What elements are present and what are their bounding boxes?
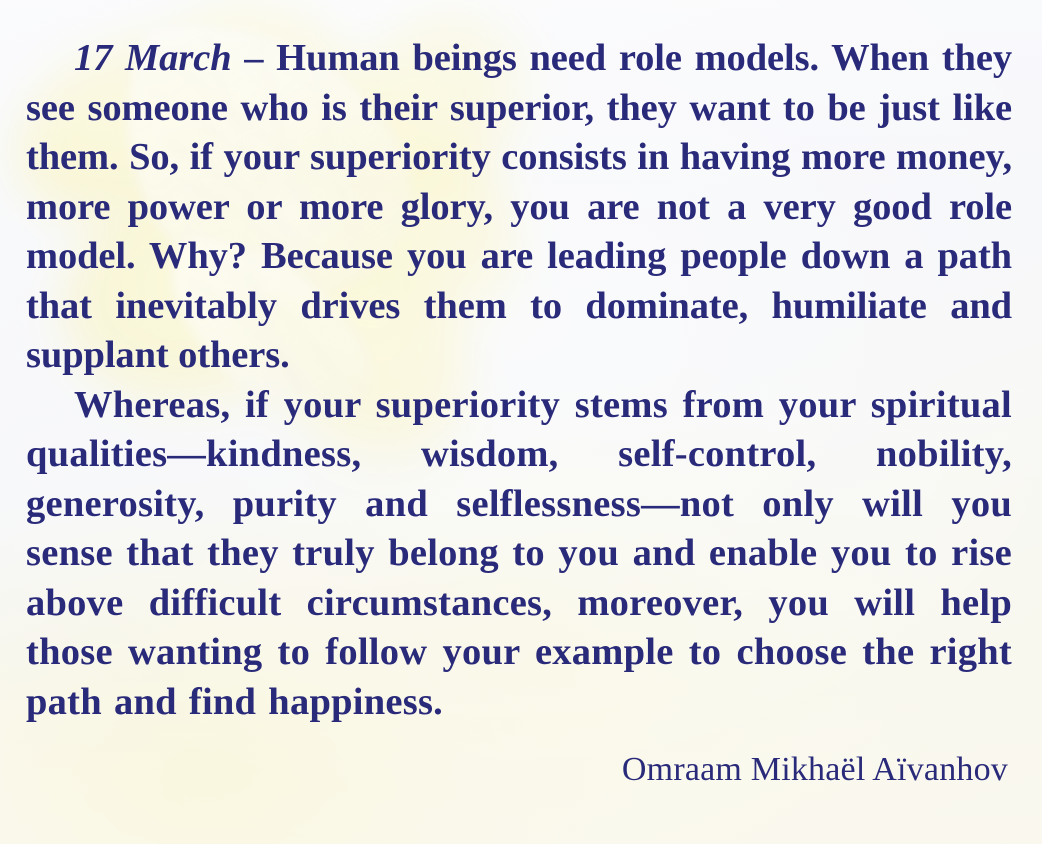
quote-paragraph-2: Whereas, if your superiority stems from … [26,381,1012,728]
quote-card: 17 March – Human beings need role models… [0,0,1042,844]
date-prefix: 17 March [74,37,232,79]
quote-paragraph-1: 17 March – Human beings need role models… [26,34,1012,381]
quote-attribution: Omraam Mikhaël Aïvanhov [26,749,1012,791]
date-dash: – [232,37,277,79]
quote-content: 17 March – Human beings need role models… [0,0,1042,844]
quote-paragraph-1-body: Human beings need role models. When they… [26,37,1012,376]
